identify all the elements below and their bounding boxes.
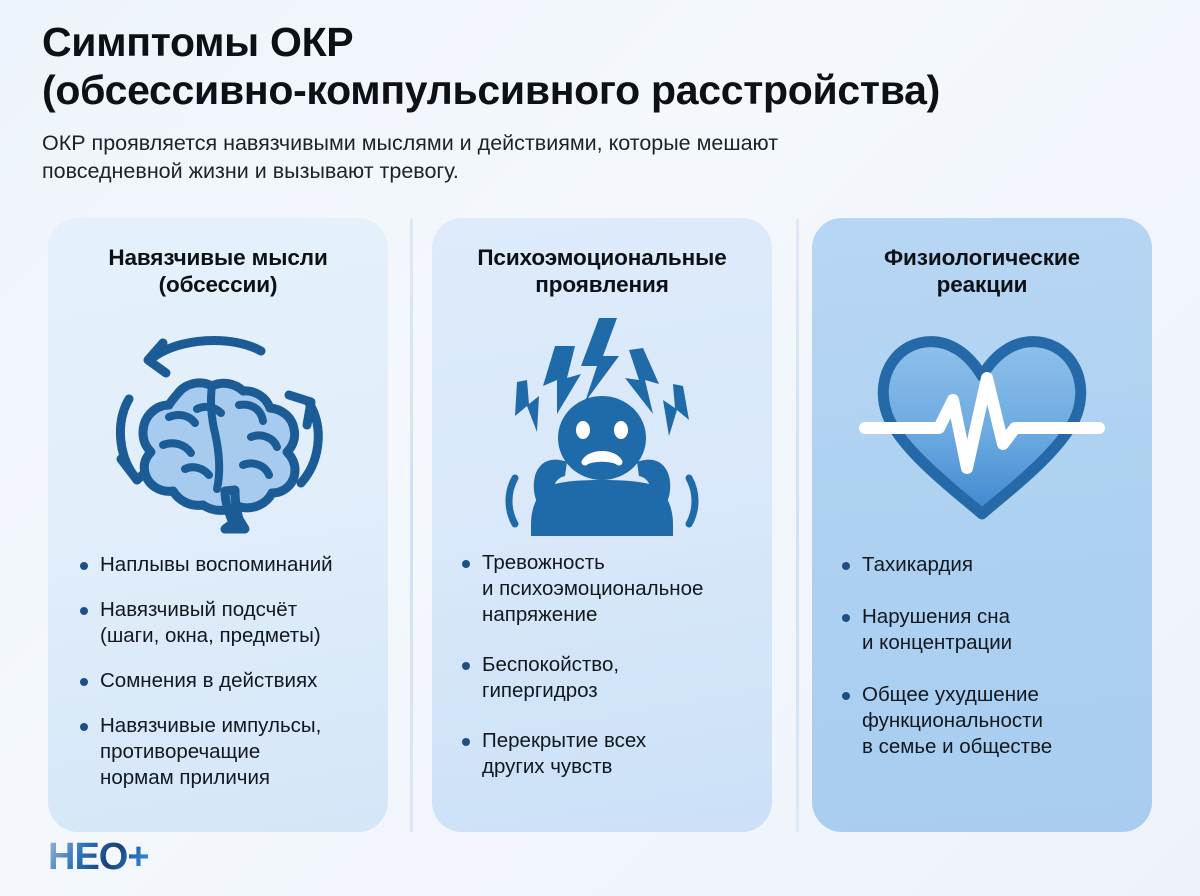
card-heading: Физиологические реакции	[834, 244, 1130, 298]
brand-logo: НЕО+	[48, 834, 149, 880]
logo-text: НЕО+	[48, 838, 149, 876]
card-divider-2	[796, 218, 799, 832]
card-obsessive-thoughts: Навязчивые мысли (обсессии)	[48, 218, 388, 832]
bullet-list: Наплывы воспоминаний Навязчивый подсчёт …	[70, 550, 366, 814]
list-item: Общее ухудшение функциональности в семье…	[842, 682, 1126, 760]
heart-pulse-icon	[834, 300, 1130, 550]
card-heading: Навязчивые мысли (обсессии)	[70, 244, 366, 298]
card-heading: Психоэмоциональные проявления	[454, 244, 750, 298]
list-item: Навязчивые импульсы, противоречащие норм…	[80, 713, 362, 791]
list-item: Беспокойство, гипергидроз	[462, 652, 746, 704]
list-item: Наплывы воспоминаний	[80, 552, 362, 578]
card-psychoemotional: Психоэмоциональные проявления	[432, 218, 772, 832]
list-item: Перекрытие всех других чувств	[462, 728, 746, 780]
list-item: Тревожность и психоэмоциональное напряже…	[462, 550, 746, 628]
list-item: Сомнения в действиях	[80, 668, 362, 694]
stressed-person-icon	[454, 300, 750, 550]
bullet-list: Тахикардия Нарушения сна и концентрации …	[834, 550, 1130, 814]
list-item: Навязчивый подсчёт (шаги, окна, предметы…	[80, 597, 362, 649]
bullet-list: Тревожность и психоэмоциональное напряже…	[454, 550, 750, 814]
card-divider-1	[410, 218, 413, 832]
card-physiological: Физиологические реакции Тахикардия	[812, 218, 1152, 832]
header: Симптомы ОКР (обсессивно-компульсивного …	[42, 18, 1162, 186]
page-title: Симптомы ОКР (обсессивно-компульсивного …	[42, 18, 1162, 115]
list-item: Нарушения сна и концентрации	[842, 604, 1126, 656]
infographic-page: Симптомы ОКР (обсессивно-компульсивного …	[0, 0, 1200, 896]
page-subtitle: ОКР проявляется навязчивыми мыслями и де…	[42, 129, 1082, 186]
brain-cycle-icon	[70, 300, 366, 550]
symptom-cards: Навязчивые мысли (обсессии)	[48, 218, 1152, 832]
list-item: Тахикардия	[842, 552, 1126, 578]
